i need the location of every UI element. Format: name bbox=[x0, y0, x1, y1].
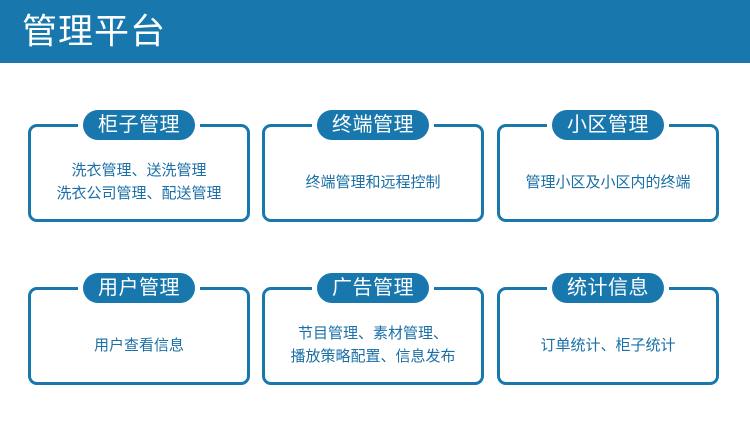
module-card-user[interactable]: 用户管理 用户查看信息 bbox=[28, 287, 250, 385]
module-card-line: 洗衣公司管理、配送管理 bbox=[56, 182, 221, 205]
page-title: 管理平台 bbox=[22, 14, 166, 49]
module-card-cabinet[interactable]: 柜子管理 洗衣管理、送洗管理 洗衣公司管理、配送管理 bbox=[28, 124, 250, 222]
module-card-body: 洗衣管理、送洗管理 洗衣公司管理、配送管理 bbox=[37, 149, 241, 215]
module-card-line: 节目管理、素材管理、 bbox=[290, 322, 455, 345]
module-card-line: 管理小区及小区内的终端 bbox=[525, 171, 690, 194]
module-card-line: 用户查看信息 bbox=[94, 334, 184, 357]
module-card-badge: 广告管理 bbox=[317, 273, 429, 303]
module-card-statistics[interactable]: 统计信息 订单统计、柜子统计 bbox=[497, 287, 719, 385]
header-band: 管理平台 bbox=[0, 0, 750, 63]
module-card-badge: 柜子管理 bbox=[83, 110, 195, 140]
module-card-advertising[interactable]: 广告管理 节目管理、素材管理、 播放策略配置、信息发布 bbox=[262, 287, 484, 385]
module-card-badge: 终端管理 bbox=[317, 110, 429, 140]
module-card-line: 播放策略配置、信息发布 bbox=[290, 345, 455, 368]
module-card-terminal[interactable]: 终端管理 终端管理和远程控制 bbox=[262, 124, 484, 222]
module-card-line: 终端管理和远程控制 bbox=[305, 171, 440, 194]
module-card-badge: 统计信息 bbox=[552, 273, 664, 303]
module-card-community[interactable]: 小区管理 管理小区及小区内的终端 bbox=[497, 124, 719, 222]
module-card-body: 终端管理和远程控制 bbox=[271, 149, 475, 215]
module-card-body: 用户查看信息 bbox=[37, 312, 241, 378]
module-card-body: 节目管理、素材管理、 播放策略配置、信息发布 bbox=[271, 312, 475, 378]
module-card-grid: 柜子管理 洗衣管理、送洗管理 洗衣公司管理、配送管理 终端管理 终端管理和远程控… bbox=[0, 63, 750, 428]
module-card-badge: 用户管理 bbox=[83, 273, 195, 303]
module-card-line: 订单统计、柜子统计 bbox=[540, 334, 675, 357]
module-card-body: 订单统计、柜子统计 bbox=[506, 312, 710, 378]
module-card-body: 管理小区及小区内的终端 bbox=[506, 149, 710, 215]
module-card-badge: 小区管理 bbox=[552, 110, 664, 140]
module-card-line: 洗衣管理、送洗管理 bbox=[56, 159, 221, 182]
